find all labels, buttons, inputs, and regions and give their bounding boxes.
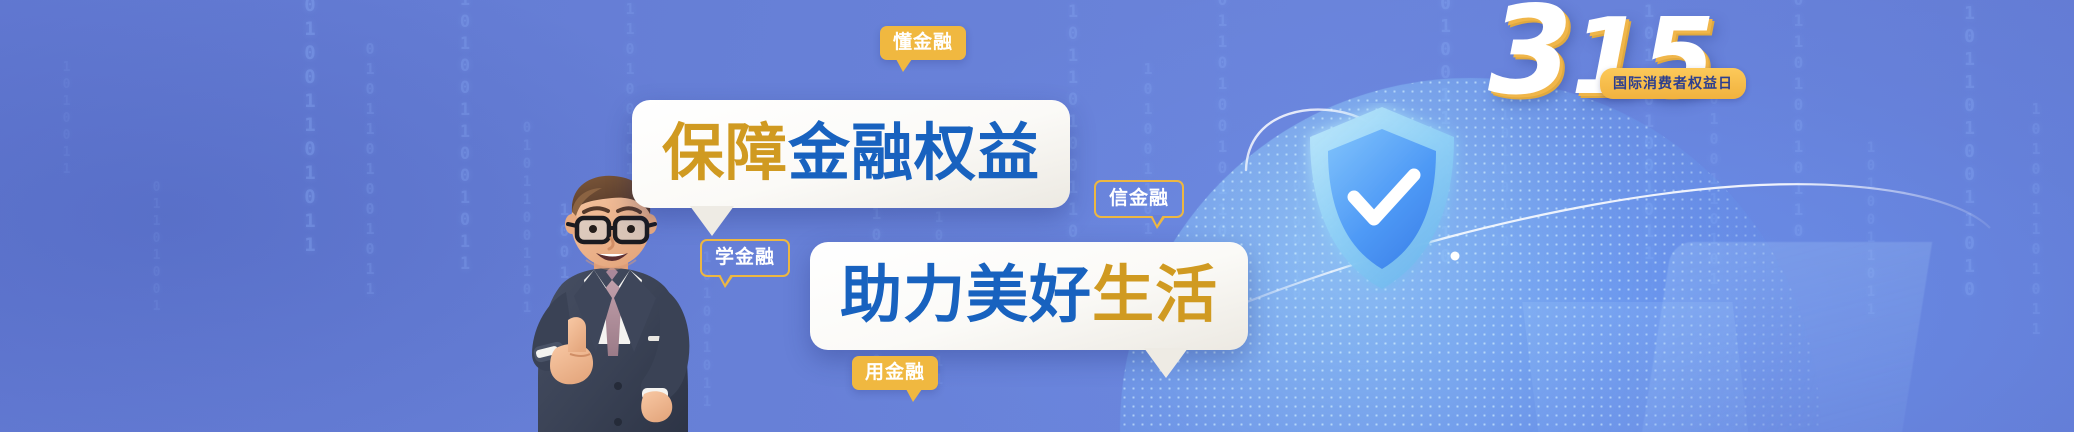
headline-2-gold: 生活 — [1092, 258, 1218, 331]
digit-3: 3 — [1488, 0, 1571, 122]
headline-1-text: 保障金融权益 — [662, 122, 1040, 184]
tag-yong-label: 用金融 — [865, 362, 925, 383]
tag-xin-tail — [1150, 216, 1166, 229]
bubble-2-tail — [1144, 348, 1188, 378]
tag-dong-label: 懂金融 — [893, 32, 953, 53]
315-subtitle-pill: 国际消费者权益日 — [1600, 68, 1746, 99]
digits-15: 15 — [1571, 0, 1713, 118]
tag-dong-tail — [896, 59, 912, 72]
bubble-1-tail — [690, 206, 734, 236]
headline-1-gold: 保障 — [662, 116, 788, 189]
marketing-banner: 1010011010110101101001011101001100101101… — [0, 0, 2074, 432]
tag-xin-jinrong: 信金融 — [1094, 180, 1184, 218]
tag-dong-jinrong: 懂金融 — [880, 26, 966, 60]
tag-xin-label: 信金融 — [1109, 188, 1169, 209]
tag-xue-label: 学金融 — [715, 247, 775, 268]
shield-check-icon — [1298, 103, 1466, 293]
tag-xue-jinrong: 学金融 — [700, 239, 790, 277]
headline-2-blue: 助力美好 — [840, 258, 1092, 331]
headline-bubble-1: 保障金融权益 — [632, 100, 1070, 208]
headline-1-blue: 金融权益 — [788, 116, 1040, 189]
tag-yong-tail — [906, 389, 922, 402]
headline-2-text: 助力美好生活 — [840, 264, 1218, 326]
315-logo: 315 国际消费者权益日 — [1488, 0, 1788, 110]
tag-yong-jinrong: 用金融 — [852, 356, 938, 390]
tag-xue-tail — [718, 275, 734, 288]
headline-bubble-2: 助力美好生活 — [810, 242, 1248, 350]
